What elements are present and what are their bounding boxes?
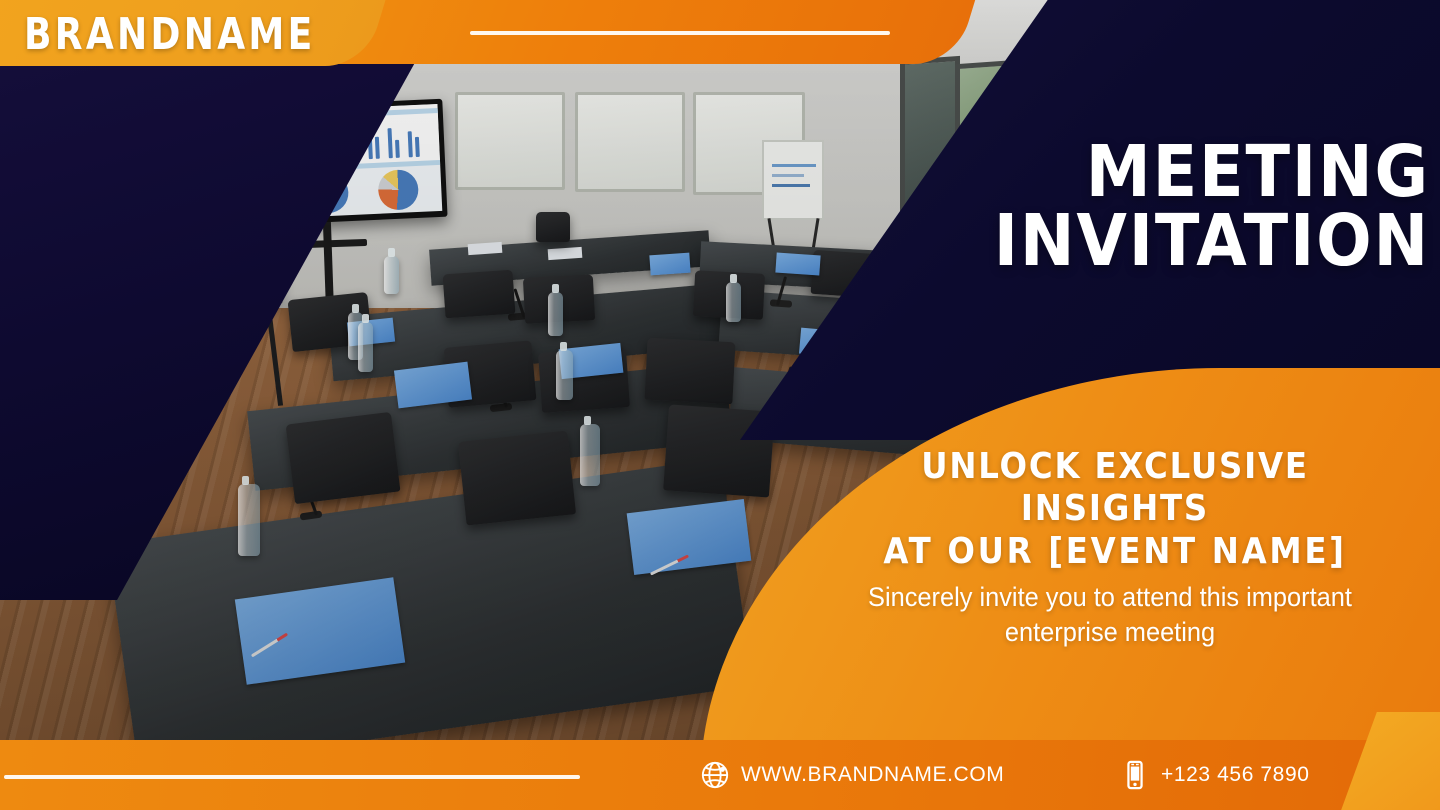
header-rule-icon xyxy=(470,31,890,35)
page-title-line1: MEETING xyxy=(979,138,1430,207)
page-title-line2: INVITATION xyxy=(979,207,1430,276)
phone-contact[interactable]: +123 456 7890 xyxy=(1120,760,1310,790)
footer-rule-icon xyxy=(4,775,580,779)
mobile-phone-icon xyxy=(1120,760,1150,790)
tagline-line1: UNLOCK EXCLUSIVE INSIGHTS xyxy=(921,446,1309,529)
page-title: MEETING INVITATION xyxy=(979,138,1430,276)
website-contact[interactable]: WWW.BRANDNAME.COM xyxy=(700,760,1004,790)
meeting-invitation-poster: BRANDNAME MEETING INVITATION UNLOCK EXCL… xyxy=(0,0,1440,810)
brand-logo-text[interactable]: BRANDNAME xyxy=(24,9,316,60)
phone-label: +123 456 7890 xyxy=(1161,763,1310,787)
tagline-line2: AT OUR [EVENT NAME] xyxy=(832,531,1399,573)
globe-icon xyxy=(700,760,730,790)
website-label: WWW.BRANDNAME.COM xyxy=(741,763,1004,787)
tagline: UNLOCK EXCLUSIVE INSIGHTS AT OUR [EVENT … xyxy=(832,446,1399,573)
invitation-blurb: Sincerely invite you to attend this impo… xyxy=(809,580,1411,649)
